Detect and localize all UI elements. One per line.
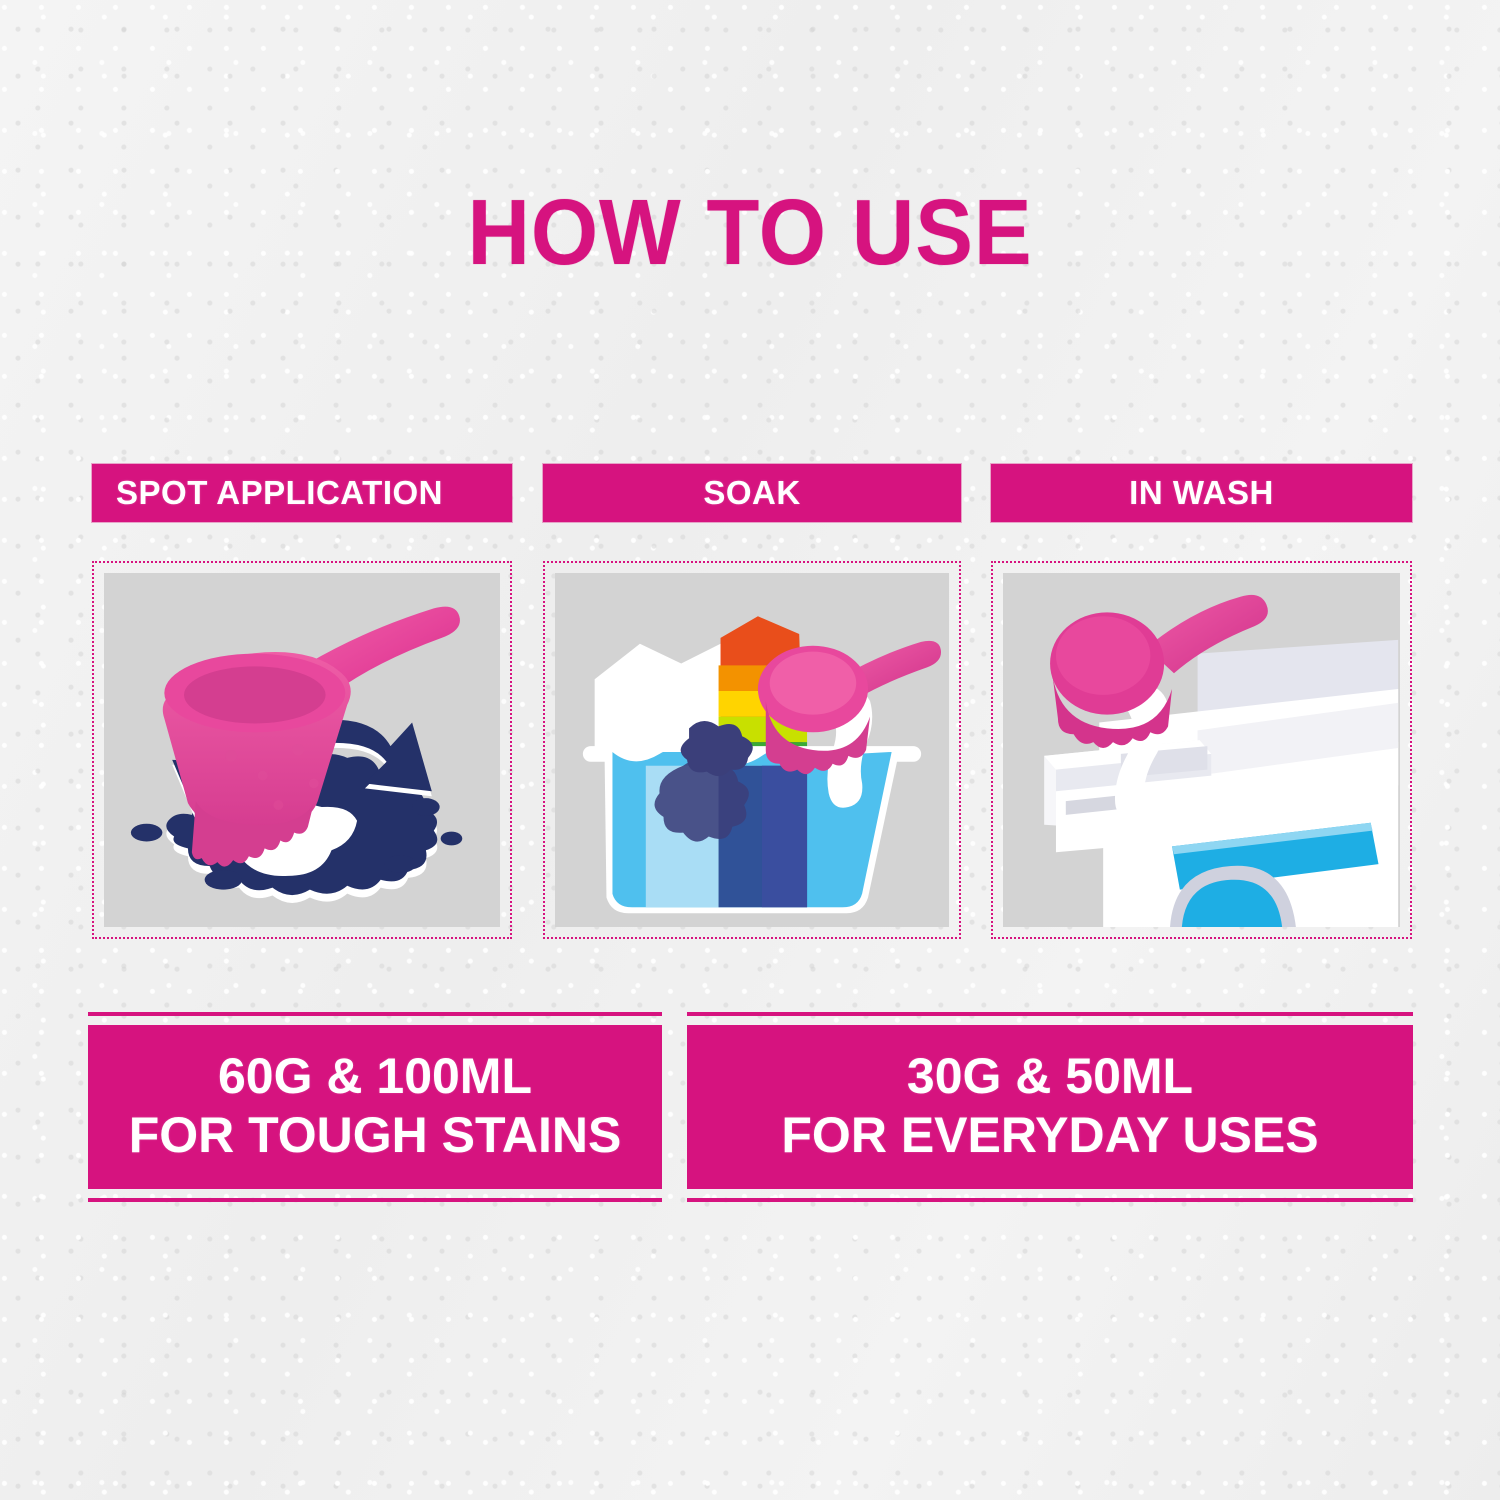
step-spot-application: SPOT APPLICATION <box>92 464 512 939</box>
step-label-in-wash: IN WASH <box>991 464 1412 522</box>
dosage-purpose-tough-stains: FOR TOUGH STAINS <box>98 1106 652 1165</box>
illustration-frame-1 <box>92 561 512 939</box>
dosage-text-everyday-uses: 30G & 50ML FOR EVERYDAY USES <box>687 1025 1413 1189</box>
steps-container: SPOT APPLICATION <box>92 464 1412 968</box>
dosage-box-everyday-uses: 30G & 50ML FOR EVERYDAY USES <box>687 1012 1413 1202</box>
step-soak: SOAK <box>543 464 961 939</box>
step-label-spot-application: SPOT APPLICATION <box>92 464 512 522</box>
dosage-box-tough-stains: 60G & 100ML FOR TOUGH STAINS <box>88 1012 662 1202</box>
illustration-frame-2 <box>543 561 961 939</box>
dosage-text-tough-stains: 60G & 100ML FOR TOUGH STAINS <box>88 1025 662 1189</box>
step-in-wash: IN WASH <box>991 464 1412 939</box>
page-title: HOW TO USE <box>53 186 1448 279</box>
dosage-purpose-everyday-uses: FOR EVERYDAY USES <box>697 1106 1403 1165</box>
illustration-scoop-rubbing-stain <box>104 573 500 927</box>
step-label-soak: SOAK <box>543 464 961 522</box>
illustration-washing-machine-drawer <box>1003 573 1400 927</box>
infographic-stage: HOW TO USE SPOT APPLICATION <box>0 0 1500 1500</box>
dosage-amount-tough-stains: 60G & 100ML <box>98 1047 652 1106</box>
dosage-amount-everyday-uses: 30G & 50ML <box>697 1047 1403 1106</box>
illustration-frame-3 <box>991 561 1412 939</box>
illustration-basin-soak <box>555 573 949 927</box>
